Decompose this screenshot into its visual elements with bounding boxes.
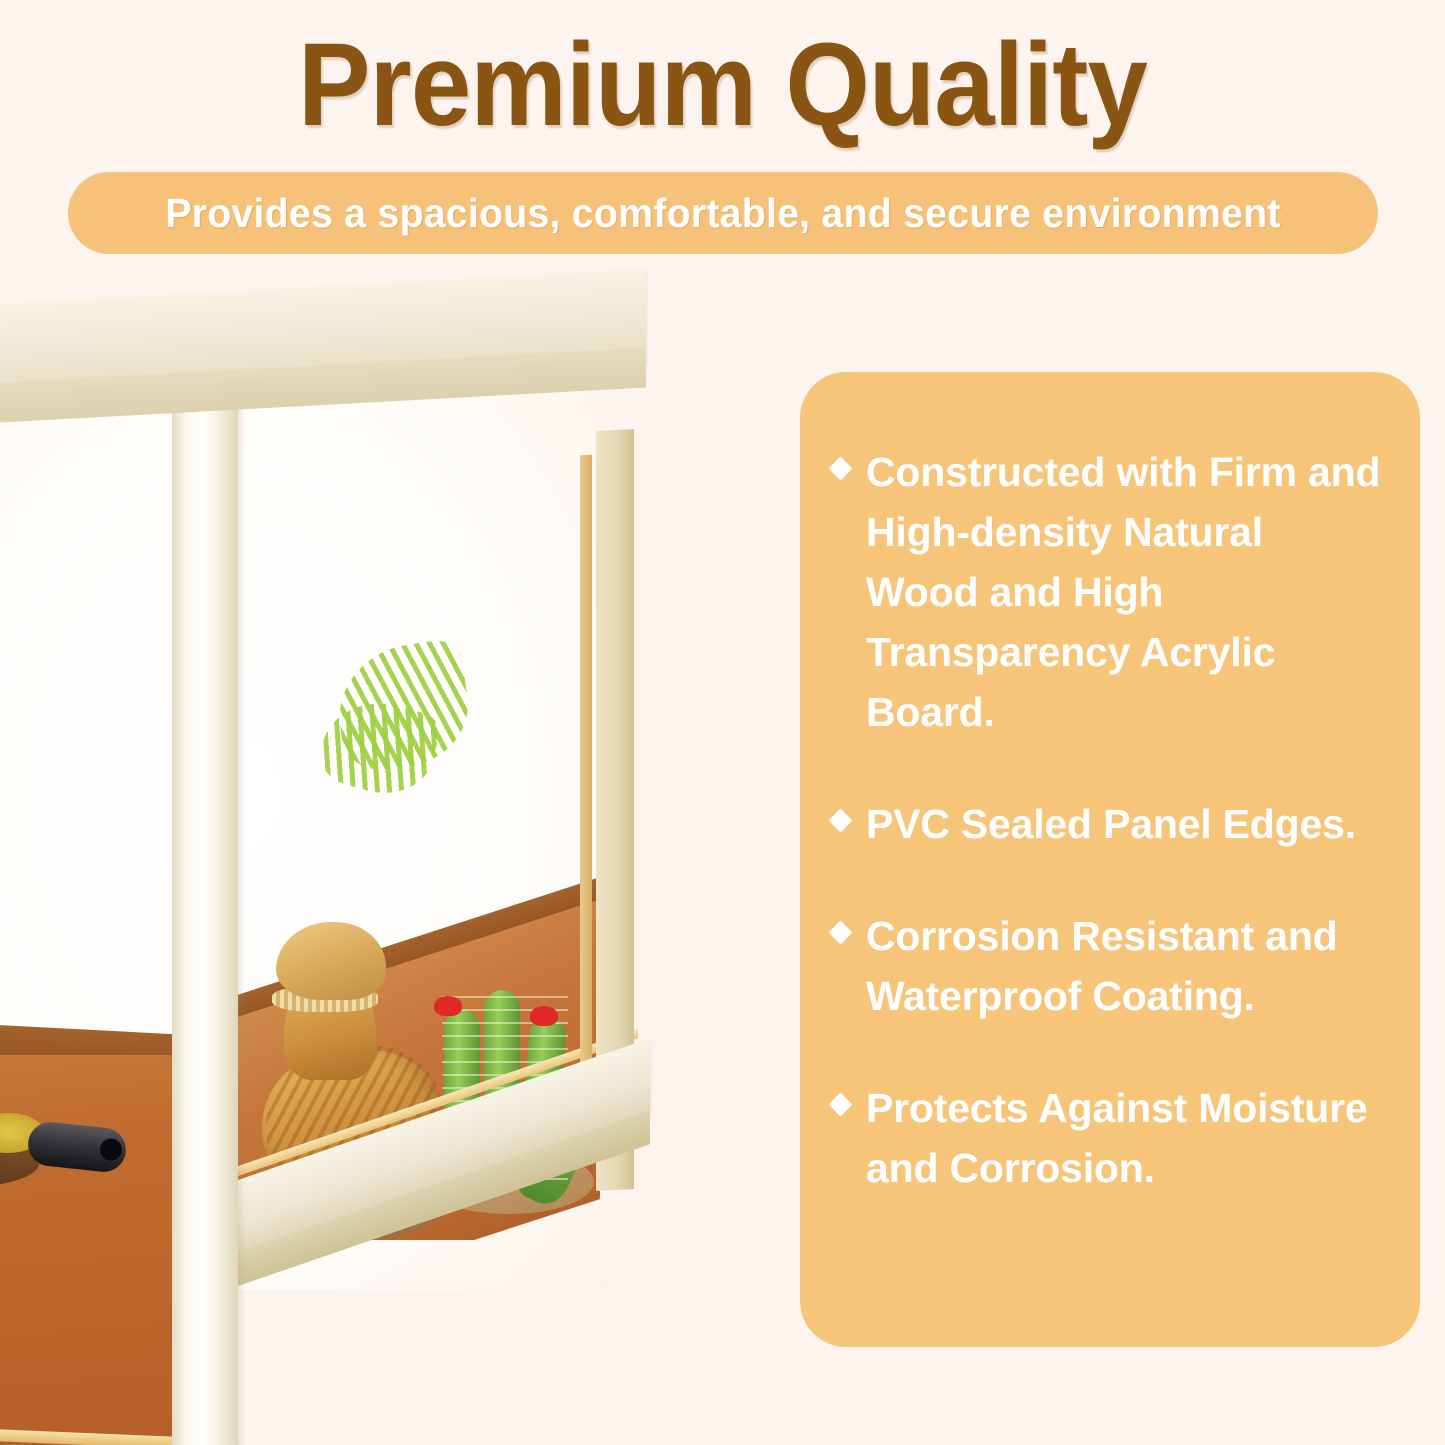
wood-post-front-corner: [172, 366, 238, 1445]
subtitle-banner: Provides a spacious, comfortable, and se…: [68, 172, 1378, 254]
feature-item: Corrosion Resistant and Waterproof Coati…: [828, 906, 1386, 1026]
feature-list-panel: Constructed with Firm and High-density N…: [800, 372, 1420, 1347]
subtitle-text: Provides a spacious, comfortable, and se…: [165, 190, 1280, 237]
page-title: Premium Quality: [58, 26, 1387, 144]
cactus-flower: [434, 996, 462, 1016]
fern-plant: [0, 980, 40, 1270]
feature-text: PVC Sealed Panel Edges.: [866, 794, 1386, 854]
feature-text: Constructed with Firm and High-density N…: [866, 442, 1386, 742]
diamond-bullet-icon: [828, 808, 852, 832]
feature-item: Constructed with Firm and High-density N…: [828, 442, 1386, 742]
feature-item: Protects Against Moisture and Corrosion.: [828, 1078, 1386, 1198]
diamond-bullet-icon: [828, 920, 852, 944]
terrarium-left-chamber: [0, 755, 180, 1445]
bearded-dragon-head: [276, 922, 386, 1000]
feature-item: PVC Sealed Panel Edges.: [828, 794, 1386, 854]
feature-text: Protects Against Moisture and Corrosion.: [866, 1078, 1386, 1198]
wood-edge-strip-right: [580, 455, 592, 1146]
feature-text: Corrosion Resistant and Waterproof Coati…: [866, 906, 1386, 1026]
infographic-page: Premium Quality Provides a spacious, com…: [0, 0, 1445, 1445]
diamond-bullet-icon: [828, 1092, 852, 1116]
product-photo-terrarium: [0, 300, 650, 1435]
diamond-bullet-icon: [828, 456, 852, 480]
cactus-flower: [530, 1006, 558, 1026]
